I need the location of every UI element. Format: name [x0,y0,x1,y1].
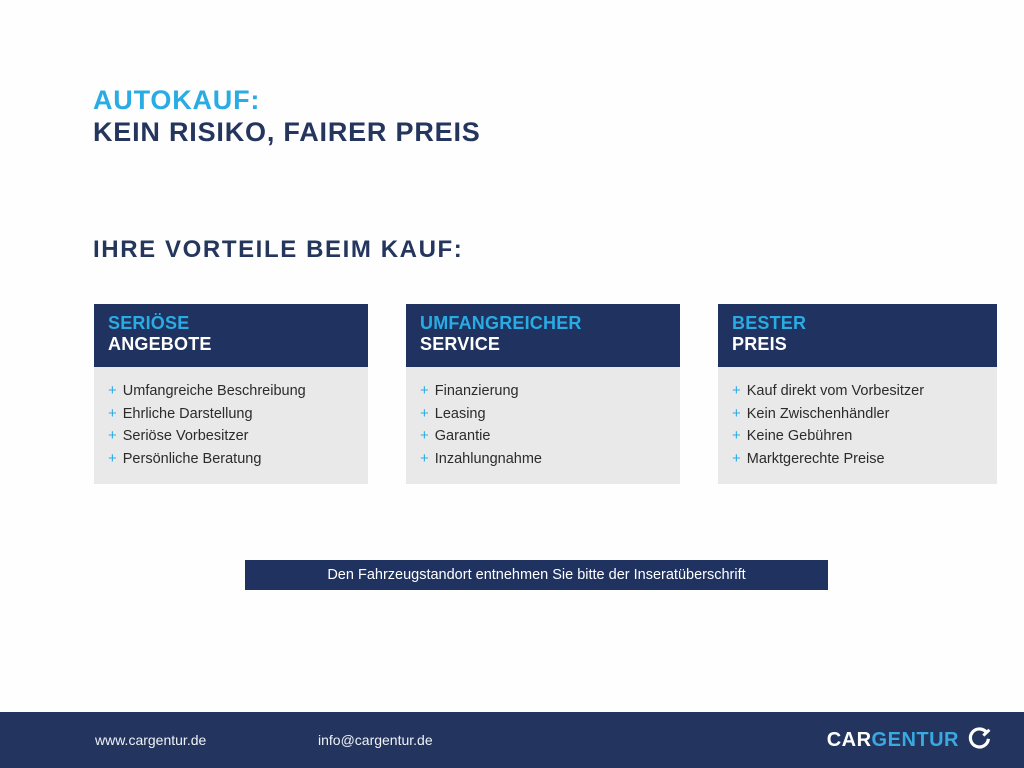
footer-email-link[interactable]: info@cargentur.de [318,732,433,748]
c-circle-icon [968,726,992,755]
card-body: +Umfangreiche Beschreibung +Ehrliche Dar… [94,367,368,484]
list-item-label: Finanzierung [435,381,519,403]
plus-icon: + [732,380,741,402]
card-header: UMFANGREICHER SERVICE [406,304,680,367]
card-title-bottom: SERVICE [420,334,666,355]
plus-icon: + [732,425,741,447]
card-header: SERIÖSE ANGEBOTE [94,304,368,367]
list-item: +Garantie [420,425,666,448]
slide-canvas: AUTOKAUF: KEIN RISIKO, FAIRER PREIS IHRE… [0,0,1024,768]
list-item: +Umfangreiche Beschreibung [108,380,354,403]
card-body: +Kauf direkt vom Vorbesitzer +Kein Zwisc… [718,367,997,484]
card-header: BESTER PREIS [718,304,997,367]
list-item-label: Inzahlungnahme [435,449,542,471]
logo-wordmark: CARGENTUR [827,729,959,752]
card-title-top: UMFANGREICHER [420,313,666,334]
benefit-card-serioese-angebote: SERIÖSE ANGEBOTE +Umfangreiche Beschreib… [94,304,368,484]
list-item-label: Garantie [435,426,491,448]
benefit-cards-row: SERIÖSE ANGEBOTE +Umfangreiche Beschreib… [94,304,985,484]
section-heading: IHRE VORTEILE BEIM KAUF: [93,236,463,264]
list-item-label: Marktgerechte Preise [747,449,885,471]
list-item: +Keine Gebühren [732,425,983,448]
plus-icon: + [108,403,117,425]
list-item-label: Kein Zwischenhändler [747,404,890,426]
plus-icon: + [108,448,117,470]
list-item: +Finanzierung [420,380,666,403]
headline-line-2: KEIN RISIKO, FAIRER PREIS [93,117,481,149]
list-item-label: Seriöse Vorbesitzer [123,426,249,448]
plus-icon: + [420,380,429,402]
page-title: AUTOKAUF: KEIN RISIKO, FAIRER PREIS [93,85,481,149]
list-item: +Inzahlungnahme [420,448,666,471]
brand-logo: CARGENTUR [827,726,992,755]
list-item-label: Keine Gebühren [747,426,853,448]
list-item: +Persönliche Beratung [108,448,354,471]
list-item-label: Kauf direkt vom Vorbesitzer [747,381,924,403]
list-item: +Seriöse Vorbesitzer [108,425,354,448]
card-title-top: BESTER [732,313,983,334]
list-item-label: Persönliche Beratung [123,449,262,471]
plus-icon: + [108,380,117,402]
footer-bar: www.cargentur.de info@cargentur.de CARGE… [0,712,1024,768]
benefit-card-bester-preis: BESTER PREIS +Kauf direkt vom Vorbesitze… [718,304,997,484]
plus-icon: + [420,403,429,425]
card-feature-list: +Umfangreiche Beschreibung +Ehrliche Dar… [108,380,354,470]
location-notice-banner: Den Fahrzeugstandort entnehmen Sie bitte… [245,560,828,590]
card-title-bottom: PREIS [732,334,983,355]
card-feature-list: +Finanzierung +Leasing +Garantie +Inzahl… [420,380,666,470]
list-item: +Marktgerechte Preise [732,448,983,471]
headline-line-1: AUTOKAUF: [93,85,481,117]
footer-website-link[interactable]: www.cargentur.de [95,732,206,748]
list-item: +Kein Zwischenhändler [732,403,983,426]
list-item: +Leasing [420,403,666,426]
plus-icon: + [108,425,117,447]
card-feature-list: +Kauf direkt vom Vorbesitzer +Kein Zwisc… [732,380,983,470]
list-item-label: Umfangreiche Beschreibung [123,381,306,403]
card-title-bottom: ANGEBOTE [108,334,354,355]
plus-icon: + [732,448,741,470]
benefit-card-umfangreicher-service: UMFANGREICHER SERVICE +Finanzierung +Lea… [406,304,680,484]
plus-icon: + [732,403,741,425]
logo-text-car: CAR [827,729,872,751]
card-body: +Finanzierung +Leasing +Garantie +Inzahl… [406,367,680,484]
list-item-label: Leasing [435,404,486,426]
card-title-top: SERIÖSE [108,313,354,334]
list-item-label: Ehrliche Darstellung [123,404,253,426]
list-item: +Ehrliche Darstellung [108,403,354,426]
plus-icon: + [420,425,429,447]
plus-icon: + [420,448,429,470]
logo-text-gentur: GENTUR [872,729,959,751]
list-item: +Kauf direkt vom Vorbesitzer [732,380,983,403]
